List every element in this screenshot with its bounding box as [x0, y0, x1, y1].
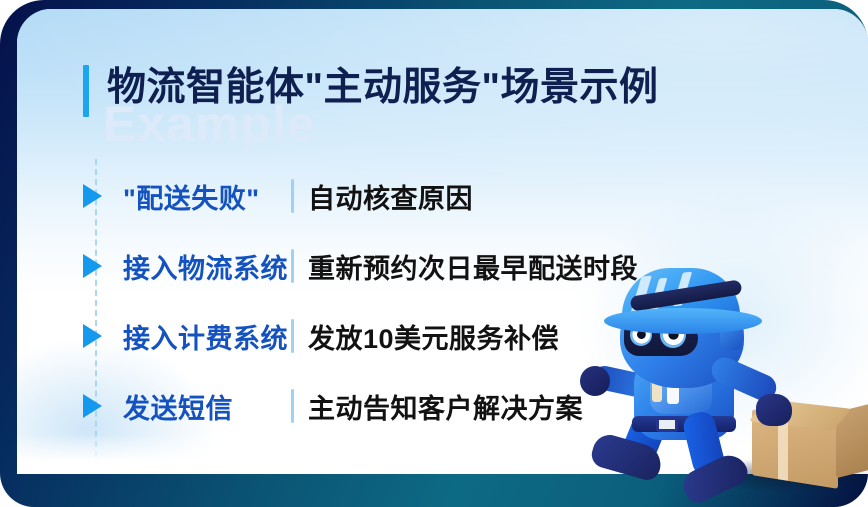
play-triangle-icon: [83, 394, 113, 418]
robot-fist-left: [580, 366, 610, 396]
step-label: 接入计费系统: [113, 317, 291, 356]
title-accent-bar: [83, 65, 89, 117]
step-divider: [291, 319, 294, 353]
step-value: 主动告知客户解决方案: [308, 387, 583, 426]
delivery-robot-mascot: [570, 262, 868, 507]
step-divider: [291, 249, 294, 283]
list-item[interactable]: "配送失败" 自动核查原因: [83, 161, 783, 231]
step-label: 发送短信: [113, 387, 291, 426]
page-title: 物流智能体"主动服务"场景示例: [107, 57, 658, 119]
robot-helmet-brim: [604, 308, 762, 334]
robot-fist-right: [756, 394, 792, 426]
step-label: 接入物流系统: [113, 247, 291, 286]
step-value: 自动核查原因: [308, 177, 473, 216]
play-triangle-icon: [83, 324, 113, 348]
play-triangle-icon: [83, 184, 113, 208]
parcel-tape: [778, 417, 788, 481]
step-value: 发放10美元服务补偿: [308, 317, 559, 356]
step-label: "配送失败": [113, 177, 291, 216]
step-divider: [291, 179, 294, 213]
step-divider: [291, 389, 294, 423]
robot-belt-buckle: [656, 417, 678, 432]
slide-outer-frame: Example 物流智能体"主动服务"场景示例 "配送失败" 自动核查原因 接入…: [0, 0, 868, 507]
play-triangle-icon: [83, 254, 113, 278]
